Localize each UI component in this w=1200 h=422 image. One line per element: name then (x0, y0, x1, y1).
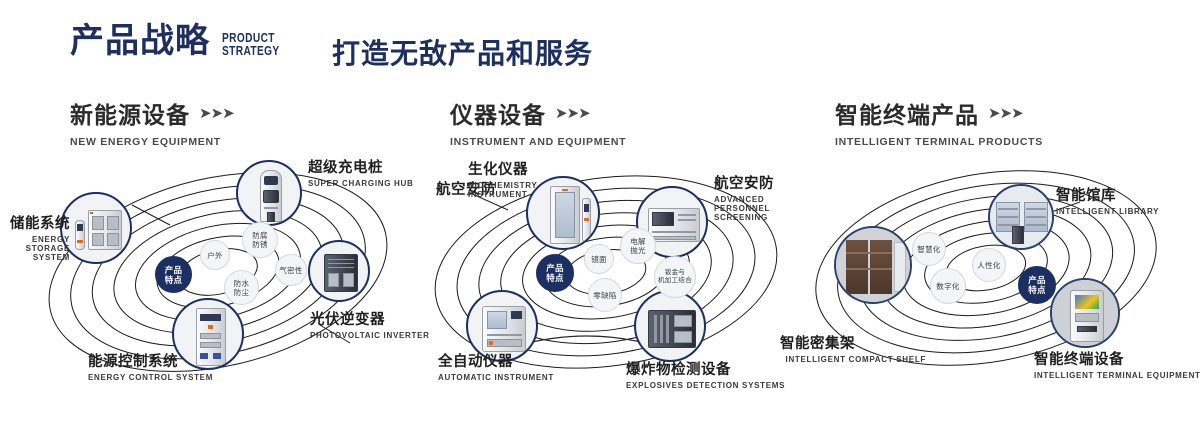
feature-bubble-outdoor: 户外 (200, 240, 230, 270)
chevron-right-icon: ➤➤➤ (988, 106, 1023, 121)
label-automatic-instrument: 全自动仪器 AUTOMATIC INSTRUMENT (438, 350, 554, 382)
feature-line2: 防尘 (234, 288, 250, 297)
node-explosives-detection-systems[interactable] (634, 290, 706, 362)
section-header-intelligent-terminal: 智能终端产品 ➤➤➤ INTELLIGENT TERMINAL PRODUCTS (835, 96, 1043, 148)
label-intelligent-compact-shelf: 智能密集架 INTELLIGENT COMPACT SHELF (780, 332, 926, 364)
label-en: SUPER CHARGING HUB (308, 179, 414, 188)
core-bubble-product-features: 产品 特点 (1018, 266, 1056, 304)
section-title-en: NEW ENERGY EQUIPMENT (70, 136, 234, 148)
core-bubble-line2: 特点 (546, 273, 564, 283)
section-title-cn: 新能源设备 (70, 96, 190, 130)
chevron-right-icon: ➤➤➤ (555, 106, 590, 121)
label-cn: 超级充电桩 (308, 156, 414, 177)
section-title-cn: 智能终端产品 (835, 96, 979, 130)
page-title-en: PRODUCT STRATEGY (222, 31, 280, 57)
core-bubble-line1: 产品 (165, 265, 183, 275)
diagram-group-intelligent-terminal: 智能馆库 INTELLIGENT LIBRARY 智能密集架 INTELLIGE… (790, 150, 1190, 400)
label-explosives-detection-systems: 爆炸物检测设备 EXPLOSIVES DETECTION SYSTEMS (626, 358, 785, 390)
feature-line2: 机加工结合 (658, 277, 692, 285)
label-biochemistry-instrument: 生化仪器 BIOCHEMISTRY INSTRUMENT (468, 158, 560, 199)
node-energy-storage-system[interactable] (60, 192, 132, 264)
label-en: ENERGY STORAGE SYSTEM (0, 235, 70, 262)
feature-bubble-electropolishing: 电解 抛光 (620, 228, 656, 264)
diagram-group-new-energy: 储能系统 ENERGY STORAGE SYSTEM 超级充电桩 SUPER C… (20, 150, 420, 400)
core-bubble-line2: 特点 (165, 275, 183, 285)
label-en: INTELLIGENT TERMINAL EQUIPMENT (1034, 371, 1200, 380)
chevron-right-icon: ➤➤➤ (199, 106, 234, 121)
core-bubble-product-features: 产品 特点 (155, 256, 192, 293)
feature-bubble-zero-defect: 零缺陷 (588, 278, 622, 312)
feature-bubble-digital: 数字化 (930, 268, 966, 304)
node-intelligent-terminal-equipment[interactable] (1050, 278, 1120, 348)
page-title: 产品战略 (70, 24, 210, 58)
feature-bubble-waterproof: 防水 防尘 (224, 270, 259, 305)
poster-header: 产品战略 PRODUCT STRATEGY (70, 24, 296, 58)
feature-bubble-airtight: 气密性 (275, 254, 307, 286)
label-en: ENERGY CONTROL SYSTEM (88, 373, 213, 382)
section-title-cn: 仪器设备 (450, 96, 546, 130)
label-en: INTELLIGENT COMPACT SHELF (780, 355, 926, 364)
core-bubble-line1: 产品 (1028, 275, 1046, 285)
diagram-group-instrument: 航空安防 生化仪器 BIOCHEMISTRY INSTRUMENT 航空安防 A… (408, 150, 808, 400)
label-cn: 能源控制系统 (88, 350, 213, 371)
feature-bubble-intelligent: 智慧化 (912, 232, 946, 266)
feature-line2: 防锈 (252, 240, 268, 249)
feature-line1: 钣金与 (665, 269, 685, 277)
node-intelligent-compact-shelf[interactable] (834, 226, 912, 304)
section-header-instrument: 仪器设备 ➤➤➤ INSTRUMENT AND EQUIPMENT (450, 96, 626, 148)
page-subtitle: 打造无敌产品和服务 (332, 32, 593, 72)
poster-canvas: 产品战略 PRODUCT STRATEGY 打造无敌产品和服务 新能源设备 ➤➤… (0, 0, 1200, 422)
section-header-new-energy: 新能源设备 ➤➤➤ NEW ENERGY EQUIPMENT (70, 96, 234, 148)
section-title-en: INTELLIGENT TERMINAL PRODUCTS (835, 136, 1043, 148)
node-intelligent-library[interactable] (988, 184, 1054, 250)
section-title-en: INSTRUMENT AND EQUIPMENT (450, 136, 626, 148)
feature-bubble-mirror-finish: 镜面 (584, 244, 614, 274)
feature-bubble-sheetmetal-machining: 钣金与 机加工结合 (654, 256, 696, 298)
label-cn: 智能终端设备 (1034, 348, 1200, 369)
label-energy-storage-system: 储能系统 ENERGY STORAGE SYSTEM (0, 212, 70, 262)
node-photovoltaic-inverter[interactable] (308, 240, 370, 302)
label-en: INTELLIGENT LIBRARY (1056, 207, 1159, 216)
feature-line2: 抛光 (630, 246, 646, 255)
label-cn: 生化仪器 (468, 158, 560, 179)
label-cn: 智能馆库 (1056, 184, 1159, 205)
label-cn: 储能系统 (0, 212, 70, 233)
label-cn: 全自动仪器 (438, 350, 554, 371)
page-title-en-line2: STRATEGY (222, 44, 280, 57)
label-intelligent-terminal-equipment: 智能终端设备 INTELLIGENT TERMINAL EQUIPMENT (1034, 348, 1200, 380)
core-bubble-line1: 产品 (546, 263, 564, 273)
feature-line1: 电解 (630, 237, 646, 246)
feature-bubble-anticorrosion: 防腐 防锈 (242, 222, 278, 258)
label-en: EXPLOSIVES DETECTION SYSTEMS (626, 381, 785, 390)
label-en: AUTOMATIC INSTRUMENT (438, 373, 554, 382)
core-bubble-product-features: 产品 特点 (536, 254, 574, 292)
feature-bubble-humanized: 人性化 (972, 248, 1006, 282)
label-cn: 智能密集架 (780, 332, 926, 353)
feature-line1: 防水 (234, 279, 250, 288)
label-en: BIOCHEMISTRY INSTRUMENT (468, 181, 560, 199)
label-energy-control-system: 能源控制系统 ENERGY CONTROL SYSTEM (88, 350, 213, 382)
node-super-charging-hub[interactable] (236, 160, 302, 226)
label-cn: 爆炸物检测设备 (626, 358, 785, 379)
feature-line1: 防腐 (252, 231, 268, 240)
core-bubble-line2: 特点 (1028, 285, 1046, 295)
label-intelligent-library: 智能馆库 INTELLIGENT LIBRARY (1056, 184, 1159, 216)
label-super-charging-hub: 超级充电桩 SUPER CHARGING HUB (308, 156, 414, 188)
